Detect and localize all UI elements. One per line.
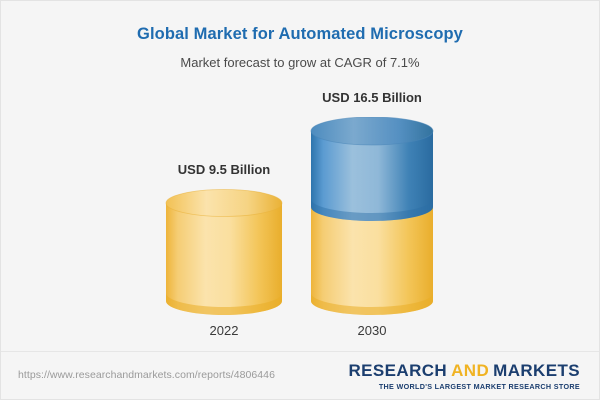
report-url[interactable]: https://www.researchandmarkets.com/repor… [18, 369, 275, 381]
brand-logo[interactable]: RESEARCHANDMARKETS THE WORLD'S LARGEST M… [349, 361, 581, 391]
cylinder-2030 [309, 117, 435, 317]
bar-2030: USD 16.5 Billion [309, 89, 435, 317]
axis-label-2030: 2030 [309, 322, 435, 340]
axis-label-2022: 2022 [164, 322, 284, 340]
bar-value-label-2030: USD 16.5 Billion [309, 89, 435, 107]
infographic-card: Global Market for Automated Microscopy M… [0, 0, 600, 400]
chart-plot-area: USD 9.5 Billion [1, 1, 600, 353]
logo-word-research: RESEARCH [349, 361, 448, 380]
bar-value-label-2022: USD 9.5 Billion [164, 161, 284, 179]
footer: https://www.researchandmarkets.com/repor… [1, 351, 599, 399]
logo-word-markets: MARKETS [493, 361, 580, 380]
logo-wordmark: RESEARCHANDMARKETS [349, 361, 581, 380]
logo-tagline: THE WORLD'S LARGEST MARKET RESEARCH STOR… [349, 382, 581, 391]
cylinder-2022 [164, 189, 284, 317]
cylinder-2030-graphic [309, 117, 435, 317]
bar-2022: USD 9.5 Billion [164, 161, 284, 317]
cylinder-2022-graphic [164, 189, 284, 317]
logo-word-and: AND [451, 361, 489, 380]
